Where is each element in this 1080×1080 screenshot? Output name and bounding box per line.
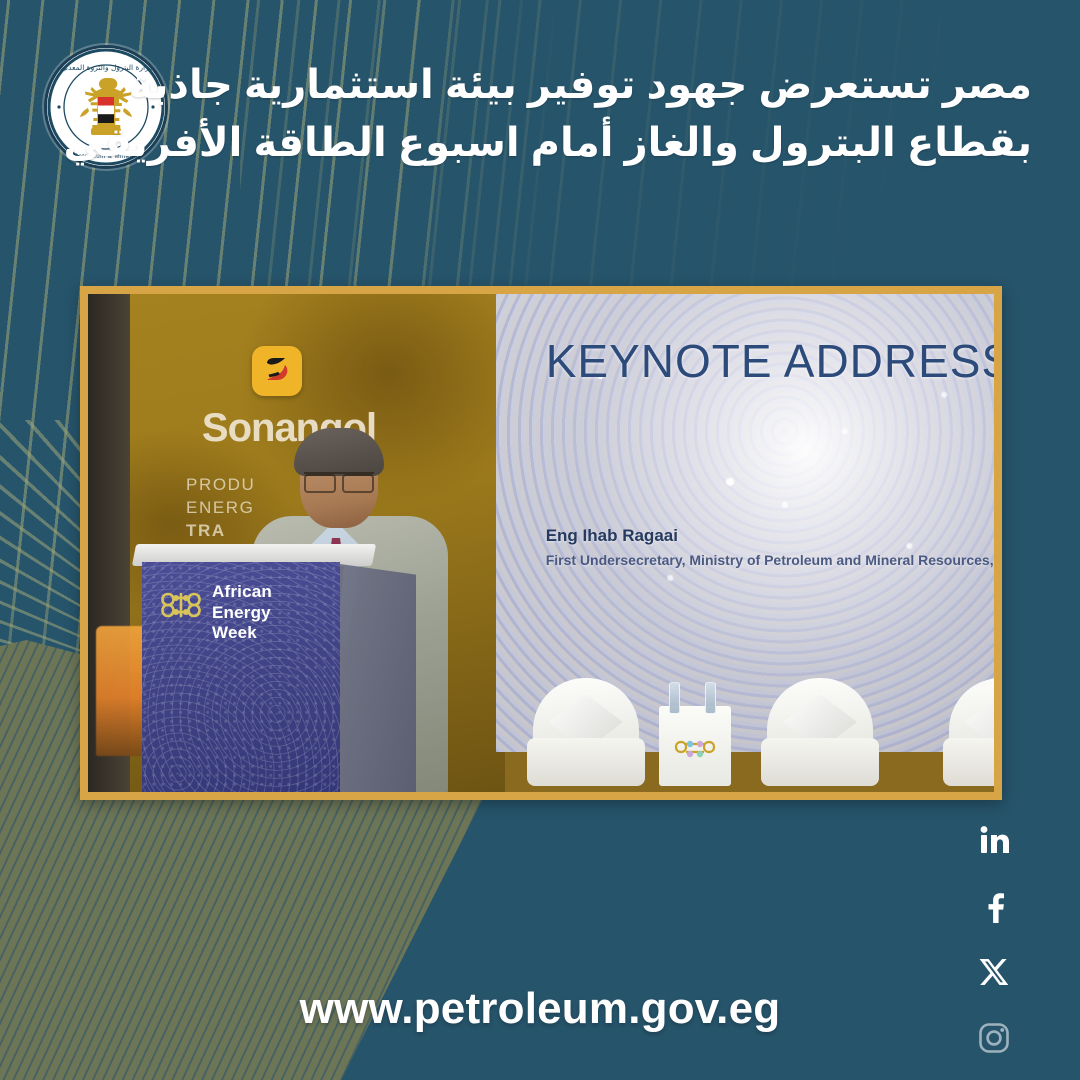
water-bottle	[705, 682, 716, 714]
podium-brand-text: African Energy Week	[212, 582, 272, 644]
event-photo: Sonangol PRODU ENERG TRA KEYNOTE ADDRESS…	[88, 294, 994, 792]
eyeglasses-icon	[304, 472, 374, 489]
slide-speaker-role: First Undersecretary, Ministry of Petrol…	[546, 552, 994, 568]
header: وزارة البترول والثروة المعدنية Ministry …	[0, 0, 1080, 215]
podium: African Energy Week	[142, 562, 340, 792]
website-url[interactable]: www.petroleum.gov.eg	[0, 984, 1080, 1034]
armchair	[943, 674, 994, 786]
podium-brand-line-1: African	[212, 582, 272, 603]
slide-title: KEYNOTE ADDRESS	[546, 334, 994, 388]
water-bottle	[669, 682, 680, 714]
headline-line-1: مصر تستعرض جهود توفير بيئة استثمارية جاذ…	[232, 56, 1032, 114]
armchair	[527, 674, 645, 786]
african-energy-week-logo-icon	[673, 732, 717, 766]
podium-brand-line-3: Week	[212, 623, 272, 644]
event-photo-frame: Sonangol PRODU ENERG TRA KEYNOTE ADDRESS…	[80, 286, 1002, 800]
social-media-card: وزارة البترول والثروة المعدنية Ministry …	[0, 0, 1080, 1080]
armchair	[761, 674, 879, 786]
african-energy-week-logo-icon	[160, 584, 202, 626]
side-table	[659, 706, 731, 786]
page-title: مصر تستعرض جهود توفير بيئة استثمارية جاذ…	[232, 56, 1032, 172]
sonangol-logo-icon	[252, 346, 302, 396]
facebook-icon[interactable]	[972, 884, 1016, 928]
headline-line-2: بقطاع البترول والغاز أمام اسبوع الطاقة ا…	[232, 114, 1032, 172]
podium-side-panel	[340, 564, 416, 792]
podium-brand-line-2: Energy	[212, 603, 272, 624]
slide-speaker-name: Eng Ihab Ragaai	[546, 526, 678, 546]
linkedin-icon[interactable]	[972, 818, 1016, 862]
stage-seating	[523, 662, 994, 792]
